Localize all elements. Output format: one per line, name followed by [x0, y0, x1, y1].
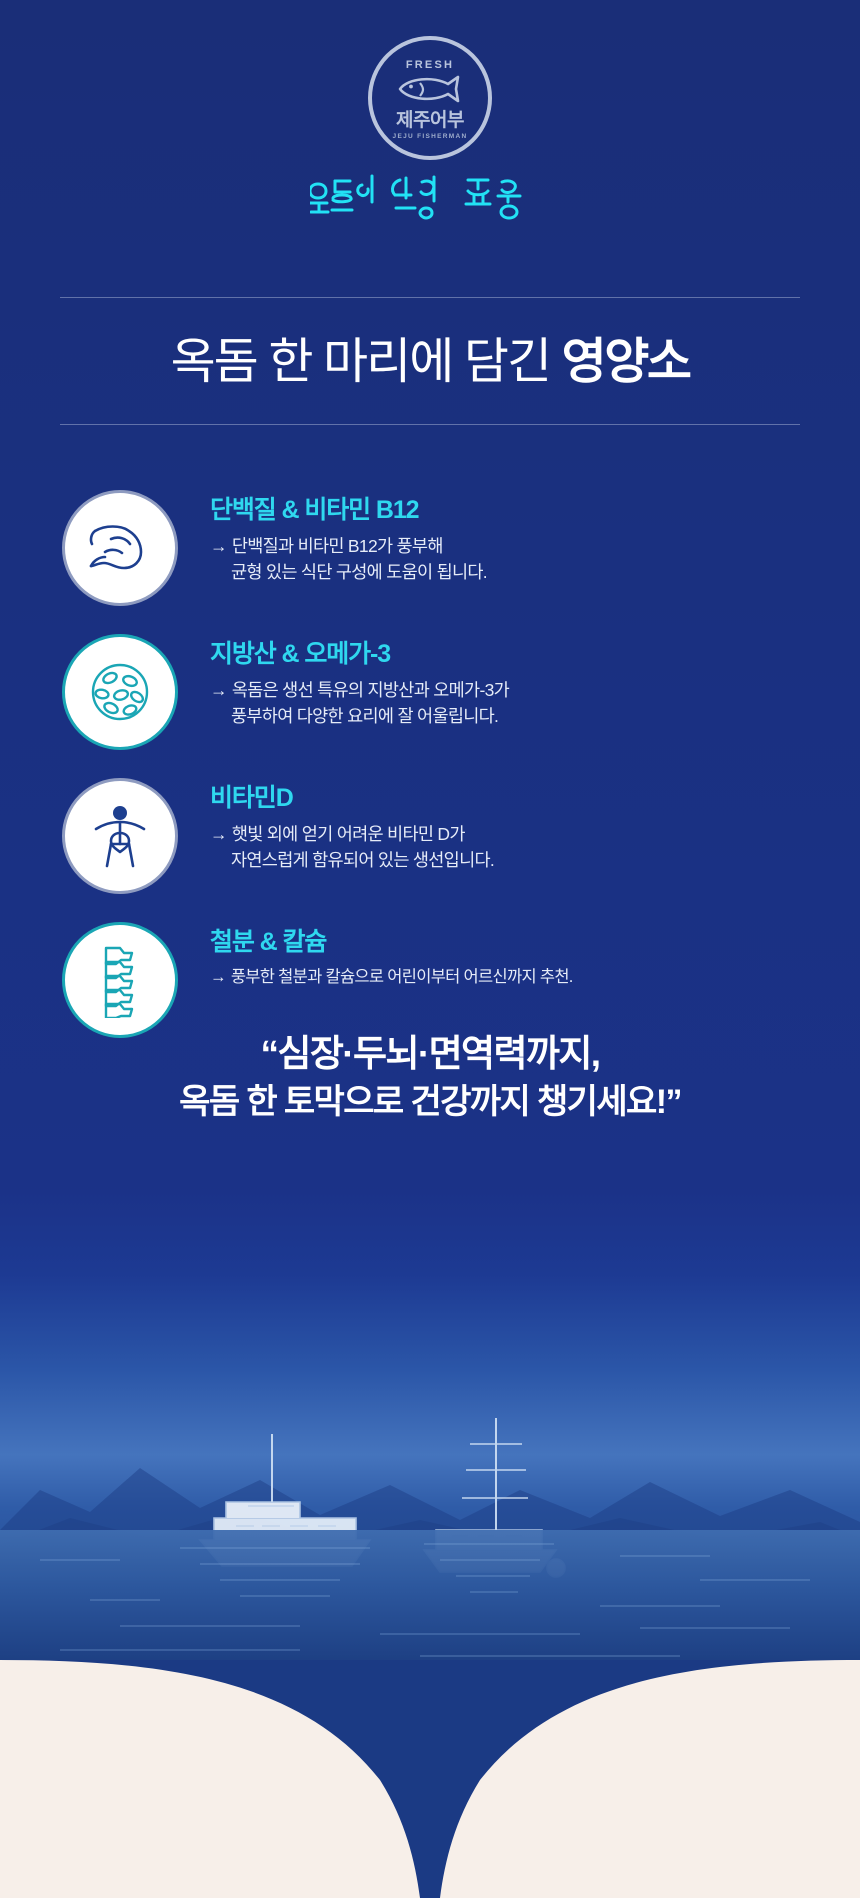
closing-quote-line1: “심장·두뇌·면역력까지, [0, 1028, 860, 1079]
benefit-heading: 철분 & 칼슘 [210, 928, 573, 957]
logo-english-name: JEJU FISHERMAN [393, 133, 468, 140]
benefit-desc-line1: 햇빛 외에 얻기 어려운 비타민 D가 [232, 824, 465, 844]
benefit-description: →풍부한 철분과 칼슘으로 어린이부터 어르신까지 추천. [210, 965, 573, 990]
benefit-text-protein: 단백질 & 비타민 B12 →단백질과 비타민 B12가 풍부해 균형 있는 식… [178, 486, 487, 586]
benefit-heading: 비타민D [210, 784, 494, 813]
benefit-desc-line1: 풍부한 철분과 칼슘으로 어린이부터 어르신까지 추천. [231, 968, 573, 986]
benefit-heading: 지방산 & 오메가-3 [210, 640, 509, 669]
benefit-desc-line1: 단백질과 비타민 B12가 풍부해 [232, 536, 443, 556]
closing-quote: “심장·두뇌·면역력까지, 옥돔 한 토막으로 건강까지 챙기세요!” [0, 1028, 860, 1126]
benefit-desc-line2: 풍부하여 다양한 요리에 잘 어울립니다. [210, 703, 509, 730]
closing-quote-line2: 옥돔 한 토막으로 건강까지 챙기세요!” [0, 1079, 860, 1126]
benefit-description: →햇빛 외에 얻기 어려운 비타민 D가 자연스럽게 함유되어 있는 생선입니다… [210, 821, 494, 874]
benefit-text-omega3: 지방산 & 오메가-3 →옥돔은 생선 특유의 지방산과 오메가-3가 풍부하여… [178, 630, 509, 730]
arrow-icon: → [210, 824, 227, 844]
divider-bottom [60, 424, 800, 425]
benefit-desc-line2: 균형 있는 식단 구성에 도움이 됩니다. [210, 559, 487, 586]
benefit-description: →단백질과 비타민 B12가 풍부해 균형 있는 식단 구성에 도움이 됩니다. [210, 533, 487, 586]
fatty-acid-cells-icon [62, 634, 178, 750]
benefit-description: →옥돔은 생선 특유의 지방산과 오메가-3가 풍부하여 다양한 요리에 잘 어… [210, 677, 509, 730]
seascape-photo [0, 1190, 860, 1720]
person-sunlight-icon [62, 778, 178, 894]
benefit-item-vitamin-d: 비타민D →햇빛 외에 얻기 어려운 비타민 D가 자연스럽게 함유되어 있는 … [0, 774, 860, 894]
logo-badge-circle: FRESH 제주어부 JEJU FISHERMAN [368, 36, 492, 160]
infographic-page: FRESH 제주어부 JEJU FISHERMAN [0, 0, 860, 1898]
spine-bone-icon [62, 922, 178, 1038]
page-title: 옥돔 한 마리에 담긴 영양소 [0, 322, 860, 393]
benefit-desc-line1: 옥돔은 생선 특유의 지방산과 오메가-3가 [232, 680, 509, 700]
arrow-icon: → [210, 680, 227, 700]
logo-fresh-text: FRESH [406, 59, 454, 71]
fish-icon [394, 74, 466, 109]
divider-top [60, 297, 800, 298]
benefit-item-iron-calcium: 철분 & 칼슘 →풍부한 철분과 칼슘으로 어린이부터 어르신까지 추천. [0, 918, 860, 1038]
benefit-heading: 단백질 & 비타민 B12 [210, 496, 487, 525]
benefit-item-omega3: 지방산 & 오메가-3 →옥돔은 생선 특유의 지방산과 오메가-3가 풍부하여… [0, 630, 860, 750]
benefit-desc-line2: 자연스럽게 함유되어 있는 생선입니다. [210, 847, 494, 874]
bicep-muscle-icon [62, 490, 178, 606]
benefit-text-iron-calcium: 철분 & 칼슘 →풍부한 철분과 칼슘으로 어린이부터 어르신까지 추천. [178, 918, 573, 990]
arrow-icon: → [210, 968, 226, 986]
benefit-text-vitamin-d: 비타민D →햇빛 외에 얻기 어려운 비타민 D가 자연스럽게 함유되어 있는 … [178, 774, 494, 874]
arrow-icon: → [210, 536, 227, 556]
script-subtitle [0, 168, 860, 225]
benefits-list: 단백질 & 비타민 B12 →단백질과 비타민 B12가 풍부해 균형 있는 식… [0, 486, 860, 1062]
logo-korean-name: 제주어부 [396, 111, 464, 130]
brand-logo: FRESH 제주어부 JEJU FISHERMAN [0, 36, 860, 160]
page-title-normal: 옥돔 한 마리에 담긴 [171, 335, 562, 389]
water-reflections [0, 1530, 860, 1720]
benefit-item-protein: 단백질 & 비타민 B12 →단백질과 비타민 B12가 풍부해 균형 있는 식… [0, 486, 860, 606]
page-title-strong: 영양소 [562, 335, 690, 389]
